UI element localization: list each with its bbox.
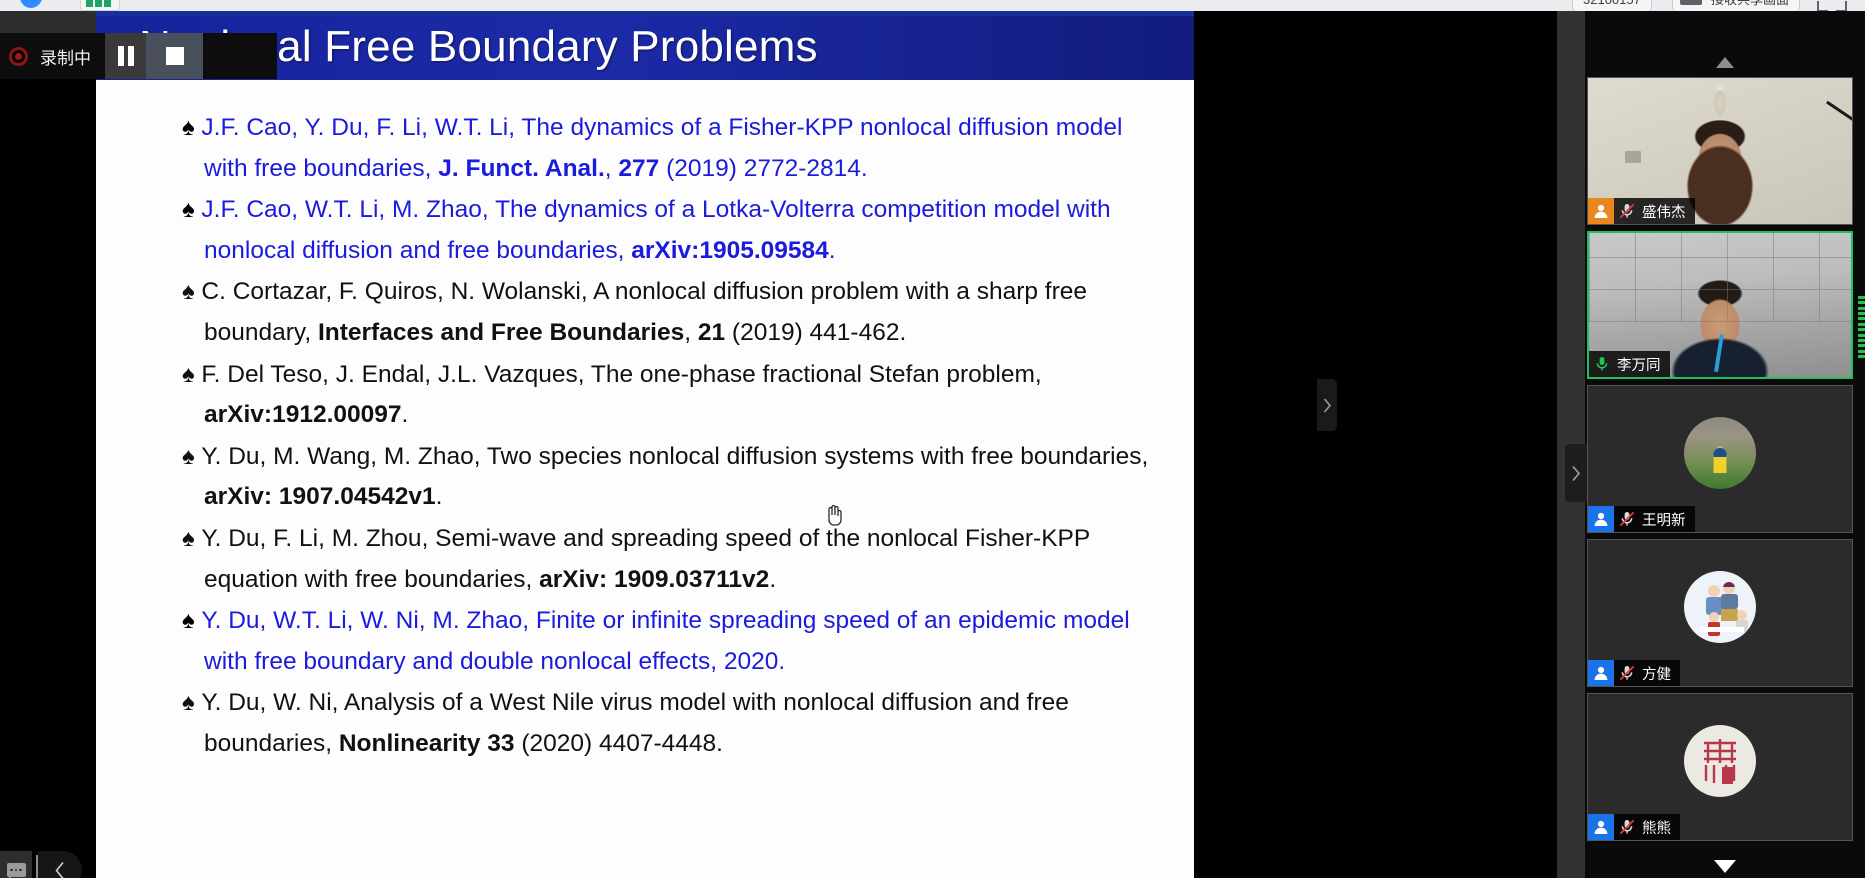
participant-tile[interactable]: 方健 — [1587, 539, 1853, 687]
chevron-right-icon — [1571, 465, 1581, 482]
camera-icon — [1680, 0, 1702, 5]
chevron-left-icon — [54, 861, 66, 878]
triangle-up-icon — [1716, 57, 1734, 68]
reference-text: . — [436, 483, 443, 510]
reference-item: ♠ Y. Du, W.T. Li, W. Ni, M. Zhao, Finite… — [182, 601, 1172, 682]
chevron-right-icon — [1323, 398, 1332, 413]
avatar — [1684, 571, 1756, 643]
person-icon — [1593, 665, 1609, 681]
mic-status — [1614, 510, 1640, 528]
participant-name-badge: 熊熊 — [1588, 814, 1680, 840]
spade-bullet-icon: ♠ — [182, 443, 201, 470]
meeting-id-chip[interactable]: 32100157 — [1572, 0, 1652, 11]
pause-recording-button[interactable] — [105, 33, 146, 79]
shared-screen-area[interactable]: Nonlocal Free Boundary Problems ♠ J.F. C… — [0, 11, 1557, 878]
reference-text: Y. Du, M. Wang, M. Zhao, Two species non… — [201, 443, 1148, 470]
reference-text: F. Del Teso, J. Endal, J.L. Vazques, The… — [201, 361, 1041, 388]
avatar — [1684, 725, 1756, 797]
participant-name-badge: 李万同 — [1589, 351, 1670, 377]
spade-bullet-icon: ♠ — [182, 525, 201, 552]
reference-item: ♠ Y. Du, W. Ni, Analysis of a West Nile … — [182, 683, 1172, 764]
reference-text: (2020) 4407-4448. — [515, 730, 723, 757]
record-dot-icon — [9, 47, 28, 66]
reference-item: ♠ Y. Du, F. Li, M. Zhou, Semi-wave and s… — [182, 519, 1172, 600]
participant-tile[interactable]: 盛伟杰 — [1587, 77, 1853, 225]
spade-bullet-icon: ♠ — [182, 607, 201, 634]
orange-person-icon — [1588, 198, 1614, 224]
mic-muted-icon — [1618, 510, 1636, 528]
mic-unmuted-icon — [1593, 355, 1611, 373]
slide-reference-list: ♠ J.F. Cao, Y. Du, F. Li, W.T. Li, The d… — [96, 80, 1194, 878]
reference-text: . — [769, 566, 776, 593]
recording-label: 录制中 — [40, 44, 91, 69]
avatar — [1684, 417, 1756, 489]
reference-item: ♠ F. Del Teso, J. Endal, J.L. Vazques, T… — [182, 355, 1172, 436]
reference-text: (2019) 441-462. — [725, 319, 906, 346]
reference-text: . — [829, 237, 836, 264]
presentation-slide: Nonlocal Free Boundary Problems ♠ J.F. C… — [96, 16, 1194, 878]
participant-name: 王明新 — [1640, 509, 1695, 530]
participant-name-badge: 王明新 — [1588, 506, 1695, 532]
participant-name: 熊熊 — [1640, 817, 1680, 838]
mic-status — [1614, 664, 1640, 682]
collapse-controls-button[interactable] — [38, 851, 82, 878]
person-icon — [1593, 203, 1609, 219]
reference-emphasis: arXiv:1912.00097 — [204, 401, 402, 428]
annotate-button[interactable] — [0, 851, 32, 878]
person-icon — [1593, 511, 1609, 527]
reference-text: , — [684, 319, 698, 346]
participant-tile[interactable]: 王明新 — [1587, 385, 1853, 533]
spade-bullet-icon: ♠ — [182, 689, 201, 716]
hand-cursor — [824, 503, 844, 527]
reference-emphasis: arXiv:1905.09584 — [631, 237, 829, 264]
mic-status — [1614, 818, 1640, 836]
pause-icon — [118, 46, 124, 66]
reference-text: Y. Du, W.T. Li, W. Ni, M. Zhao, Finite o… — [201, 607, 1129, 675]
participant-tile[interactable]: 熊熊 — [1587, 693, 1853, 841]
reference-item: ♠ C. Cortazar, F. Quiros, N. Wolanski, A… — [182, 272, 1172, 353]
reference-emphasis: J. Funct. Anal. — [438, 155, 605, 182]
recording-indicator-bar: 录制中 — [0, 33, 277, 79]
reference-emphasis: Interfaces and Free Boundaries — [318, 319, 684, 346]
reference-emphasis: 277 — [618, 155, 659, 182]
signal-bars-icon — [80, 0, 120, 11]
reference-emphasis: 21 — [698, 319, 725, 346]
reference-text: (2019) 2772-2814. — [659, 155, 867, 182]
spade-bullet-icon: ♠ — [182, 196, 201, 223]
reference-text: , — [605, 155, 619, 182]
stop-recording-button[interactable] — [146, 33, 203, 79]
reference-item: ♠ J.F. Cao, Y. Du, F. Li, W.T. Li, The d… — [182, 108, 1172, 189]
mic-muted-icon — [1618, 818, 1636, 836]
spade-bullet-icon: ♠ — [182, 114, 201, 141]
spade-bullet-icon: ♠ — [182, 278, 201, 305]
reference-emphasis: 33 — [487, 730, 514, 757]
chat-bubble-icon — [7, 863, 26, 877]
participant-name-badge: 方健 — [1588, 660, 1680, 686]
pause-icon — [128, 46, 134, 66]
participant-name: 李万同 — [1615, 354, 1670, 375]
fullscreen-icon[interactable] — [1817, 0, 1847, 11]
expand-panel-button[interactable] — [1317, 379, 1337, 431]
spade-bullet-icon: ♠ — [182, 361, 201, 388]
filmstrip-scroll-down-button[interactable] — [1585, 856, 1865, 876]
audio-level-meter — [1858, 296, 1865, 358]
participant-name: 方健 — [1640, 663, 1680, 684]
reference-emphasis: arXiv: 1909.03711v2 — [539, 566, 769, 593]
mic-status — [1614, 202, 1640, 220]
participant-filmstrip[interactable]: 盛伟杰李万同王明新方健熊熊 — [1557, 11, 1865, 878]
participant-tile[interactable]: 李万同 — [1587, 231, 1853, 379]
blue-person-icon — [1588, 660, 1614, 686]
reference-item: ♠ J.F. Cao, W.T. Li, M. Zhao, The dynami… — [182, 190, 1172, 271]
person-icon — [1593, 819, 1609, 835]
reference-text: . — [402, 401, 409, 428]
filmstrip-scroll-area[interactable]: 盛伟杰李万同王明新方健熊熊 — [1585, 11, 1865, 878]
triangle-down-icon — [1714, 860, 1736, 873]
zoom-logo-icon — [20, 0, 42, 8]
mic-muted-icon — [1618, 664, 1636, 682]
participant-name: 盛伟杰 — [1640, 201, 1695, 222]
green-mic-icon — [1589, 351, 1615, 377]
blue-person-icon — [1588, 814, 1614, 840]
expand-filmstrip-button[interactable] — [1565, 444, 1587, 502]
reference-emphasis: Nonlinearity — [339, 730, 481, 757]
reference-item: ♠ Y. Du, M. Wang, M. Zhao, Two species n… — [182, 437, 1172, 518]
participant-name-badge: 盛伟杰 — [1588, 198, 1695, 224]
share-letterbox-left — [0, 11, 96, 33]
blue-person-icon — [1588, 506, 1614, 532]
reference-emphasis: arXiv: 1907.04542v1 — [204, 483, 436, 510]
stop-icon — [166, 47, 184, 65]
filmstrip-scroll-up-button[interactable] — [1585, 49, 1865, 75]
share-bottom-controls — [0, 851, 82, 878]
zoom-top-toolbar: 32100157 接收共享画面 — [0, 0, 1865, 11]
mic-muted-icon — [1618, 202, 1636, 220]
